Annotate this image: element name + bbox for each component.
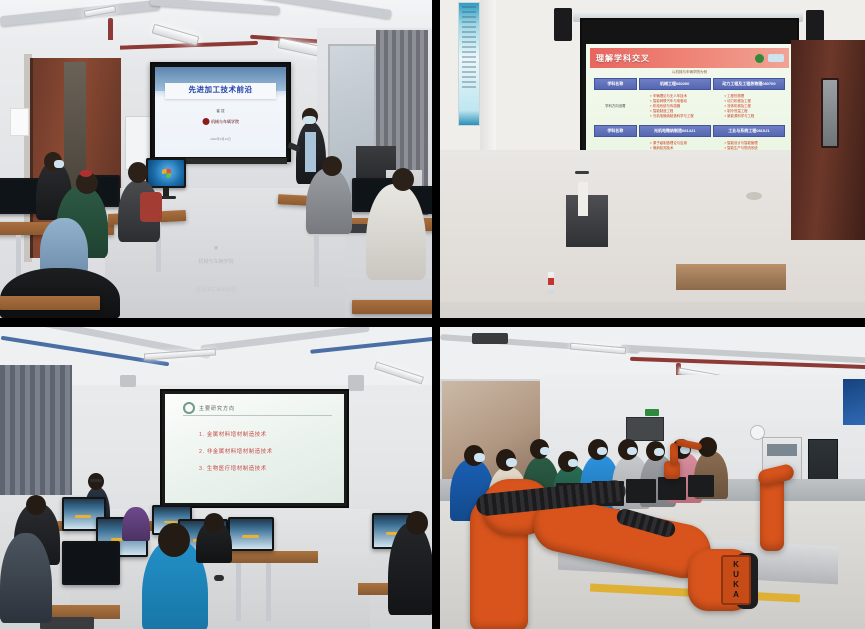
slide-title-group: 主要研究方向 [183, 402, 235, 414]
face-mask [54, 160, 64, 168]
face-mask [540, 447, 550, 455]
desk [676, 264, 786, 290]
ceiling-projector [472, 333, 508, 344]
wall-speaker-icon [348, 375, 364, 391]
monitor [626, 479, 656, 503]
face-mask [627, 447, 637, 455]
desk-leg [236, 563, 241, 621]
window-curtain [0, 365, 72, 495]
wall-panel [626, 417, 664, 441]
background-robot-arm [662, 439, 708, 479]
door-window [821, 78, 839, 148]
blue-banner [843, 379, 865, 425]
wall-pillar [480, 0, 496, 175]
exit-sign-icon [645, 409, 659, 416]
monitor [62, 541, 120, 585]
student-hat [122, 507, 150, 541]
wall-speaker-icon [120, 375, 136, 387]
wall-notice [10, 108, 29, 136]
projection-screen: 主要研究方向 1. 金属材料增材制造技术 2. 非金属材料增材制造技术 [160, 389, 349, 508]
eyeglasses-icon [90, 479, 102, 482]
photo-panel-bottom-right: KUKA [440, 327, 865, 629]
gutter-vertical-bottom [432, 327, 440, 629]
wall-poster [458, 2, 480, 126]
presenter-blouse [578, 182, 588, 216]
list-item: 3. 生物医疗增材制造技术 [199, 464, 334, 472]
student-head [392, 168, 414, 191]
hair-clip [746, 192, 762, 200]
computer-desk [352, 300, 432, 314]
gear-icon [183, 402, 195, 414]
slide-title: 主要研究方向 [199, 405, 235, 412]
slide-presenter: 崔 斌 [155, 109, 286, 114]
presentation-slide: 先进加工技术前沿 崔 斌 机械与车辆学院 2022年3月10日 [155, 67, 286, 157]
institute-logo-icon [768, 54, 784, 62]
speaker-icon [554, 8, 572, 41]
title-divider [183, 415, 332, 416]
table-header-cell: 动力工程及工程热物理080700 [713, 78, 785, 90]
student-body [306, 168, 352, 234]
student-white-jacket [366, 184, 426, 280]
water-bottle [548, 272, 554, 294]
table-header-cell: 机械工程080200 [639, 78, 711, 90]
table-header-cell: 工业与系统工程0810J1 [713, 125, 785, 137]
monitor-screen [148, 160, 184, 186]
student-body [388, 523, 432, 615]
face-mask [568, 459, 578, 467]
gutter-vertical-top [432, 0, 440, 318]
slide-organization: 机械与车辆学院 [211, 119, 239, 125]
student-head [26, 495, 46, 515]
photo-collage: ◉ 机械与车辆学院 先进加工技术前沿 先进加工技术前沿 崔 斌 机械与车辆学院 … [0, 0, 865, 629]
photo-panel-top-left: ◉ 机械与车辆学院 先进加工技术前沿 先进加工技术前沿 崔 斌 机械与车辆学院 … [0, 0, 432, 318]
list-item: 1. 金属材料增材制造技术 [199, 430, 334, 438]
slide-title: 先进加工技术前沿 [155, 84, 286, 95]
chair-back [0, 268, 120, 318]
list-item: 2. 非金属材料增材制造技术 [199, 447, 334, 455]
table-cell: 工程热物理 动力机械及工程 流体机械及工程 制冷低温工程 新能源科学与工程 [713, 92, 785, 121]
monitor [658, 477, 686, 500]
monitor-screen [64, 543, 118, 583]
projection-screen: 先进加工技术前沿 崔 斌 机械与车辆学院 2022年3月10日 [150, 62, 291, 162]
university-seal-icon [755, 54, 764, 63]
face-mask [474, 453, 485, 462]
student-head [406, 511, 428, 535]
robot-link [670, 443, 678, 465]
slide-title: 理解学科交叉 [596, 53, 650, 64]
cabinet-display [767, 444, 797, 456]
gutter-center [432, 318, 440, 327]
table-header-row: 学科名称 光机电微纳制造0814J1 工业与系统工程0810J1 [594, 125, 785, 137]
mouse [214, 575, 224, 581]
monitor-windows7 [146, 158, 186, 188]
photo-panel-bottom-left: 主要研究方向 1. 金属材料增材制造技术 2. 非金属材料增材制造技术 [0, 327, 432, 629]
student-head [322, 156, 342, 176]
photo-panel-top-right: 理解学科交叉 以机械与车辆学院为例 学科名称 机械工程080200 动力工程及工… [440, 0, 865, 318]
monitor-stand [163, 188, 169, 196]
slide-subcaption: 以机械与车辆学院为例 [586, 70, 793, 75]
gutter-horizontal-right [440, 318, 865, 327]
slide-logos [755, 54, 784, 63]
presentation-slide: 理解学科交叉 以机械与车辆学院为例 学科名称 机械工程080200 动力工程及工… [586, 44, 793, 167]
student-jacket [40, 218, 88, 274]
table-cell: 车辆理论与无人车技术 智能网联汽车与电驱动 机电系统与传感器 智能制造工程 光机… [639, 92, 711, 121]
monitor [228, 517, 274, 551]
student-body [0, 533, 52, 623]
student-head [128, 162, 148, 183]
slide-bullet-list: 1. 金属材料增材制造技术 2. 非金属材料增材制造技术 3. 生物医疗增材制造… [199, 430, 334, 481]
monitor-screen [230, 519, 272, 549]
face-mask [597, 447, 607, 455]
presenter-shirt [305, 132, 316, 172]
student-head [158, 523, 190, 557]
table-header-row: 学科名称 机械工程080200 动力工程及工程热物理080700 [594, 78, 785, 90]
logo-mark-icon [202, 118, 209, 125]
robot-link [676, 438, 703, 450]
robot-arm-column [760, 475, 784, 551]
gutter-horizontal-left [0, 318, 432, 327]
table-header-cell: 学科名称 [594, 125, 637, 137]
table-header-cell: 学科名称 [594, 78, 637, 90]
university-logo: 机械与车辆学院 [202, 118, 239, 125]
kuka-logo-badge: KUKA [721, 555, 751, 605]
slide-date: 2022年3月10日 [155, 137, 286, 141]
eyeglasses-icon [575, 171, 589, 174]
computer-desk [0, 296, 100, 310]
student-head [204, 513, 224, 533]
table-row-label: 学科方向设置 [594, 92, 637, 121]
kuka-brand-text: KUKA [732, 560, 741, 600]
hair-tie [80, 170, 92, 177]
desk-leg [266, 563, 271, 621]
student-red-hood [140, 192, 162, 222]
presenter-face-mask [303, 116, 316, 124]
table-header-cell: 光机电微纳制造0814J1 [639, 125, 711, 137]
table-row: 学科方向设置 车辆理论与无人车技术 智能网联汽车与电驱动 机电系统与传感器 智能… [594, 92, 785, 121]
slide-header: 理解学科交叉 [590, 48, 789, 68]
desk-leg [314, 231, 319, 287]
presentation-slide: 主要研究方向 1. 金属材料增材制造技术 2. 非金属材料增材制造技术 [165, 394, 344, 503]
face-mask [506, 458, 517, 467]
speaker-icon [806, 10, 824, 43]
